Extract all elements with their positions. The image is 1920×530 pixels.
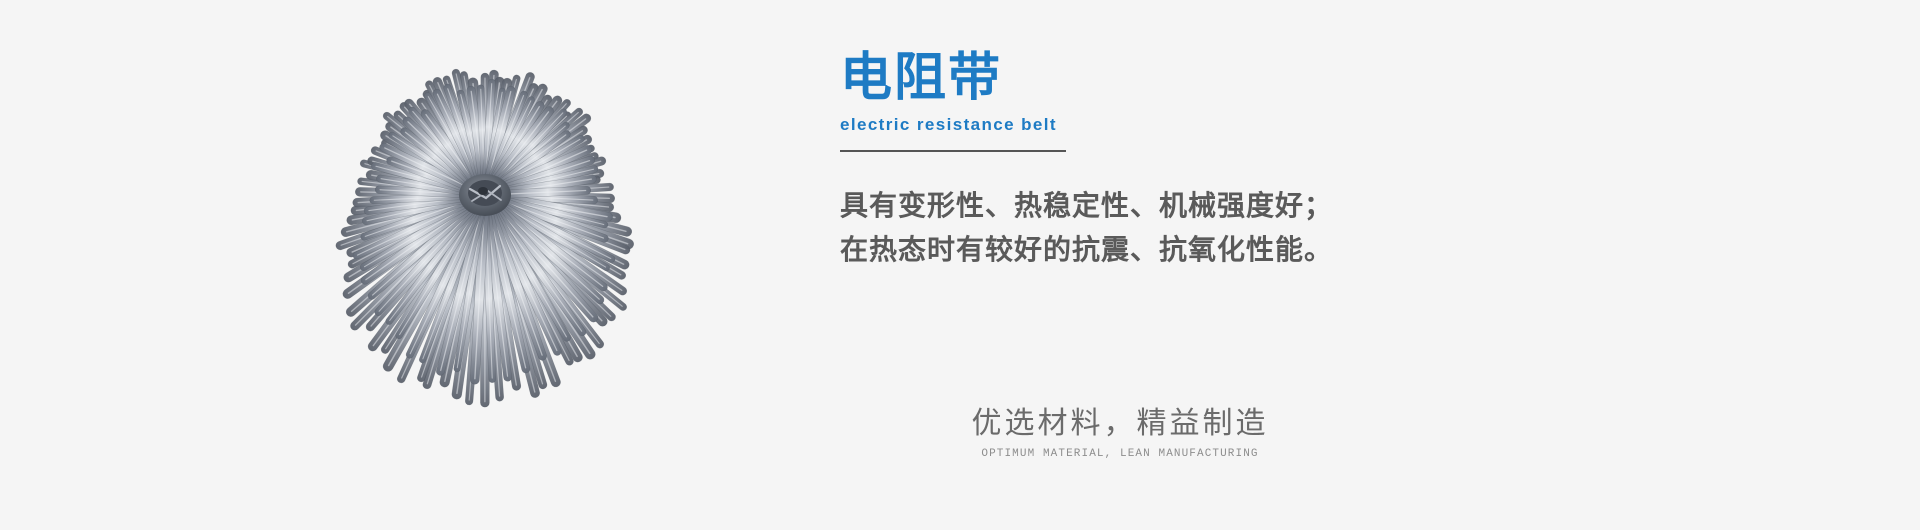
description-line-1: 具有变形性、热稳定性、机械强度好；	[840, 184, 1460, 228]
title-divider	[840, 150, 1066, 152]
product-banner: 电阻带 electric resistance belt 具有变形性、热稳定性、…	[0, 0, 1920, 530]
slogan-english: OPTIMUM MATERIAL, LEAN MANUFACTURING	[940, 446, 1300, 462]
resistance-belt-illustration	[300, 45, 670, 430]
page-subtitle: electric resistance belt	[840, 114, 1460, 136]
belt-hub	[459, 174, 511, 216]
page-title: 电阻带	[840, 48, 1460, 108]
product-image	[300, 45, 670, 430]
description-line-2: 在热态时有较好的抗震、抗氧化性能。	[840, 228, 1460, 272]
text-column: 电阻带 electric resistance belt 具有变形性、热稳定性、…	[840, 48, 1460, 272]
slogan-chinese: 优选材料，精益制造	[940, 404, 1300, 444]
slogan-block: 优选材料，精益制造 OPTIMUM MATERIAL, LEAN MANUFAC…	[940, 404, 1300, 462]
product-description: 具有变形性、热稳定性、机械强度好； 在热态时有较好的抗震、抗氧化性能。	[840, 184, 1460, 272]
